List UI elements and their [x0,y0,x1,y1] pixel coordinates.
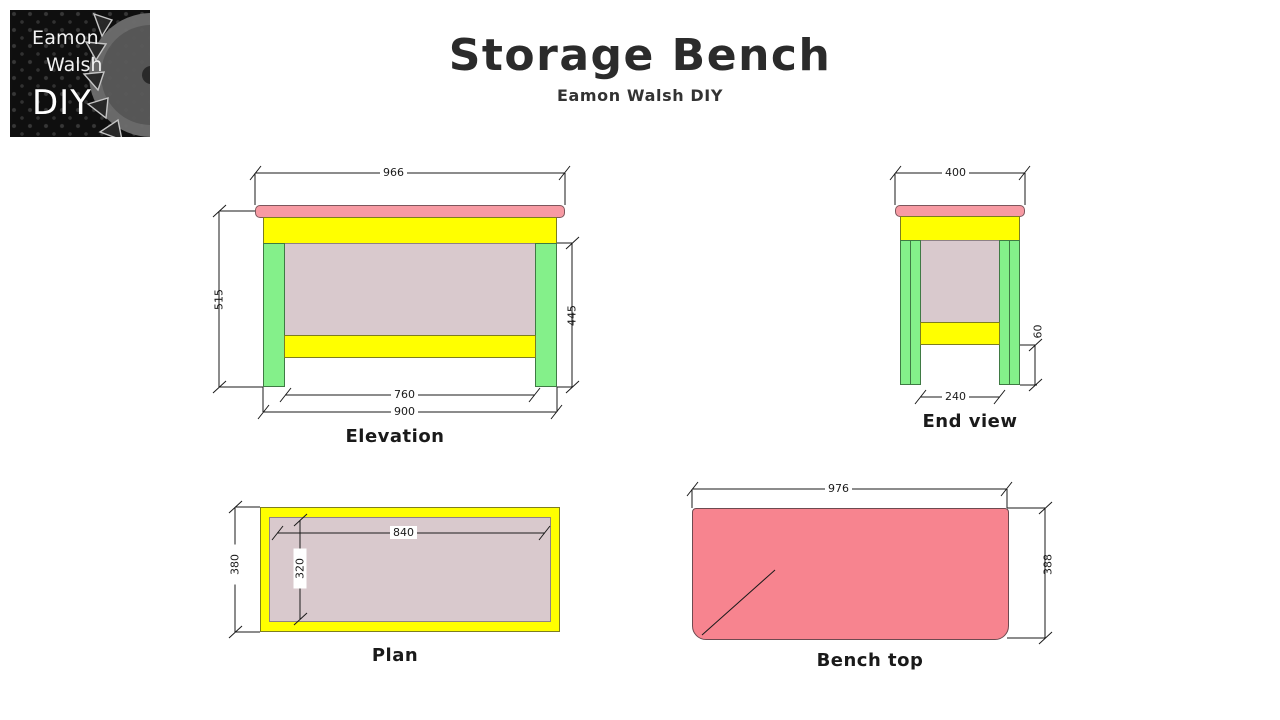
dim-515: 515 [213,280,226,320]
view-elevation: 966 515 445 760 900 Elevation [205,165,585,455]
dim-760: 760 [391,388,418,401]
dim-840: 840 [390,526,417,539]
view-bench-top: 976 388 Bench top [670,475,1070,675]
page-subtitle: Eamon Walsh DIY [0,86,1280,105]
dim-380: 380 [229,545,242,585]
dim-320: 320 [294,549,307,589]
view-label-end-view: End view [880,411,1060,432]
dim-400: 400 [942,166,969,179]
view-label-plan: Plan [205,645,585,666]
drawing-sheet: Eamon Walsh DIY Storage Bench Eamon Wals… [0,0,1280,720]
view-plan: 380 840 320 Plan [205,485,585,675]
dim-445: 445 [566,296,579,336]
dim-60: 60 [1032,312,1045,352]
dim-966: 966 [380,166,407,179]
view-label-bench-top: Bench top [670,650,1070,671]
dim-976: 976 [825,482,852,495]
benchtop-dimension-lines [670,475,1070,675]
dim-900: 900 [391,405,418,418]
dim-240: 240 [942,390,969,403]
view-end-view: 400 240 60 End view [880,165,1060,445]
view-label-elevation: Elevation [205,426,585,447]
dim-388: 388 [1042,545,1055,585]
endview-dimension-lines [880,165,1060,445]
page-title: Storage Bench [0,30,1280,81]
